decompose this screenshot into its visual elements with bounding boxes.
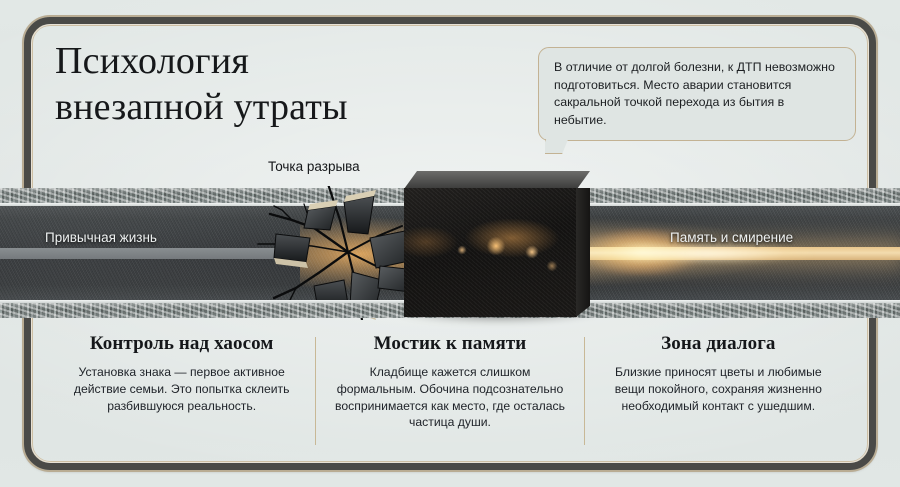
column-body: Установка знака — первое активное действ…: [62, 364, 301, 414]
break-point-label: Точка разрыва: [268, 159, 360, 174]
monolith-face: [404, 188, 577, 317]
page-title: Психология внезапной утраты: [55, 38, 525, 131]
column-body: Близкие приносят цветы и любимые вещи по…: [599, 364, 838, 414]
column-heading: Мостик к памяти: [330, 333, 569, 355]
column-bridge-to-memory: Мостик к памяти Кладбище кажется слишком…: [316, 333, 583, 453]
column-heading: Зона диалога: [599, 333, 838, 355]
title-line-2: внезапной утраты: [55, 84, 525, 130]
road-label-right: Память и смирение: [670, 230, 793, 245]
monolith-side: [576, 188, 590, 317]
memorial-monolith: [404, 171, 590, 317]
callout-bubble-tail: [545, 139, 571, 165]
column-dialogue-zone: Зона диалога Близкие приносят цветы и лю…: [585, 333, 852, 453]
road-label-left: Привычная жизнь: [45, 230, 157, 245]
callout-bubble: В отличие от долгой болезни, к ДТП невоз…: [538, 47, 856, 141]
column-heading: Контроль над хаосом: [62, 333, 301, 355]
column-control-over-chaos: Контроль над хаосом Установка знака — пе…: [48, 333, 315, 453]
callout-text: В отличие от долгой болезни, к ДТП невоз…: [554, 59, 840, 129]
monolith-top-bevel: [404, 171, 590, 189]
columns-row: Контроль над хаосом Установка знака — пе…: [48, 333, 852, 453]
title-line-1: Психология: [55, 40, 249, 82]
column-body: Кладбище кажется слишком формальным. Обо…: [330, 364, 569, 431]
infographic-canvas: Психология внезапной утраты В отличие от…: [0, 0, 900, 487]
